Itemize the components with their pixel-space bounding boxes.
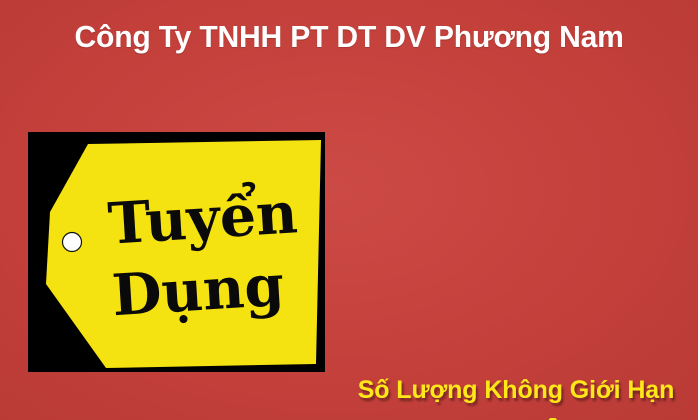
tag-image-panel: Tuyển Dụng — [28, 132, 325, 372]
headline-subtitle: Số Lượng Không Giới Hạn — [334, 376, 698, 405]
poster-header: Công Ty TNHH PT DT DV Phương Nam — [0, 8, 698, 66]
headline-group: Số Lượng Không Giới Hạn LAO ĐỘNG PHỔ THÔ… — [334, 372, 698, 420]
price-tag-icon — [28, 132, 325, 372]
company-name-title: Công Ty TNHH PT DT DV Phương Nam — [74, 19, 623, 55]
recruitment-poster: Công Ty TNHH PT DT DV Phương Nam Tuyển D… — [0, 0, 698, 420]
